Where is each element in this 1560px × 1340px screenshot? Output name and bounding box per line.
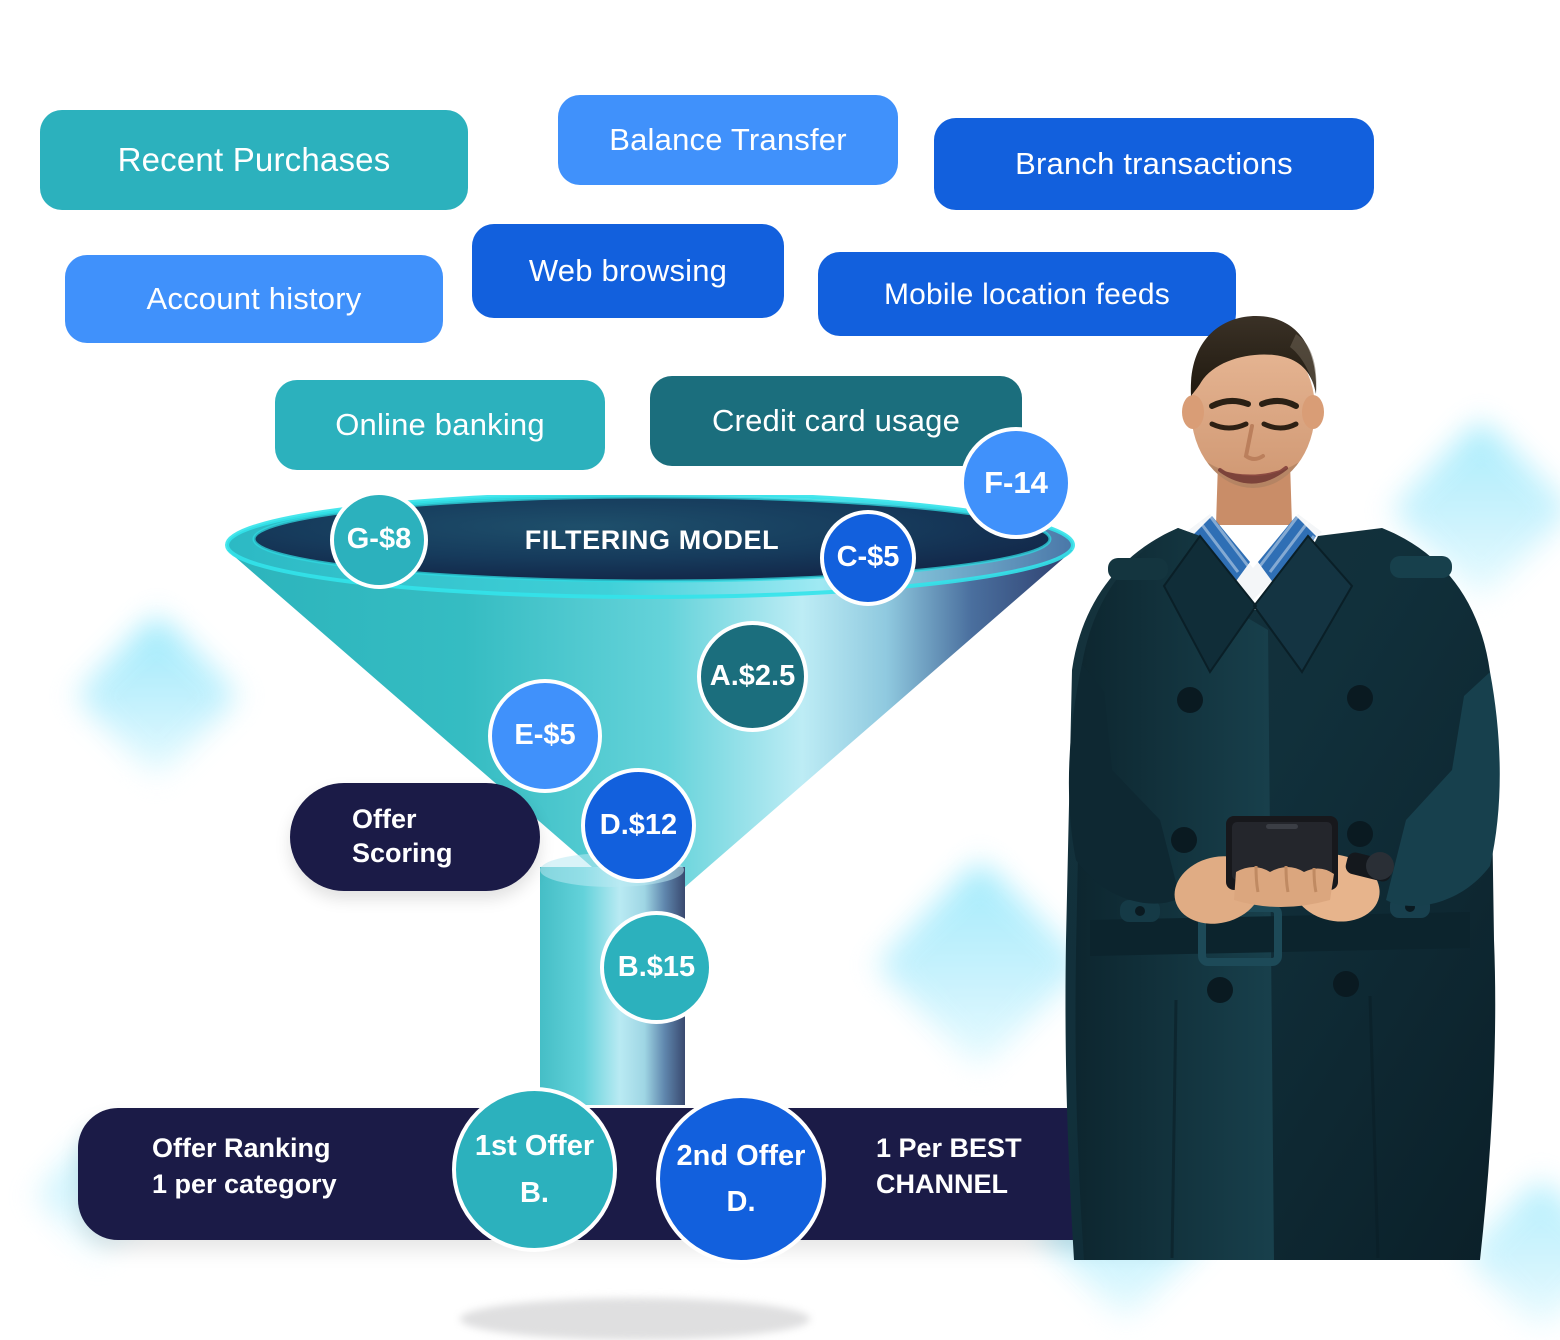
outcome-bubble-second[interactable]: 2nd Offer D. <box>656 1094 826 1264</box>
person-image <box>1060 300 1560 1265</box>
offer-ranking-right-text: 1 Per BEST CHANNEL <box>876 1130 1022 1203</box>
offer-bubble-g[interactable]: G-$8 <box>330 491 428 589</box>
offer-bubble-c[interactable]: C-$5 <box>820 510 916 606</box>
data-source-pill-balance-transfer[interactable]: Balance Transfer <box>558 95 898 185</box>
offer-ranking-left-text: Offer Ranking 1 per category <box>152 1130 337 1203</box>
ground-shadow <box>460 1298 810 1340</box>
offer-bubble-d[interactable]: D.$12 <box>581 768 696 883</box>
data-source-pill-branch-transactions[interactable]: Branch transactions <box>934 118 1374 210</box>
data-source-pill-credit-card-usage[interactable]: Credit card usage <box>650 376 1022 466</box>
person-svg <box>1060 300 1560 1265</box>
offer-bubble-e[interactable]: E-$5 <box>488 679 602 793</box>
data-source-pill-web-browsing[interactable]: Web browsing <box>472 224 784 318</box>
offer-scoring-label: Offer Scoring <box>352 803 453 871</box>
funnel-stage-label: FILTERING MODEL <box>507 515 797 565</box>
offer-bubble-f[interactable]: F-14 <box>960 427 1072 539</box>
offer-bubble-b[interactable]: B.$15 <box>600 911 713 1024</box>
data-source-pill-account-history[interactable]: Account history <box>65 255 443 343</box>
data-source-pill-recent-purchases[interactable]: Recent Purchases <box>40 110 468 210</box>
infographic-canvas: FILTERING MODEL Offer Scoring Offer Rank… <box>0 0 1560 1338</box>
data-source-pill-online-banking[interactable]: Online banking <box>275 380 605 470</box>
offer-scoring-tag: Offer Scoring <box>290 783 540 891</box>
outcome-bubble-first[interactable]: 1st Offer B. <box>452 1087 617 1252</box>
offer-bubble-a[interactable]: A.$2.5 <box>697 621 808 732</box>
